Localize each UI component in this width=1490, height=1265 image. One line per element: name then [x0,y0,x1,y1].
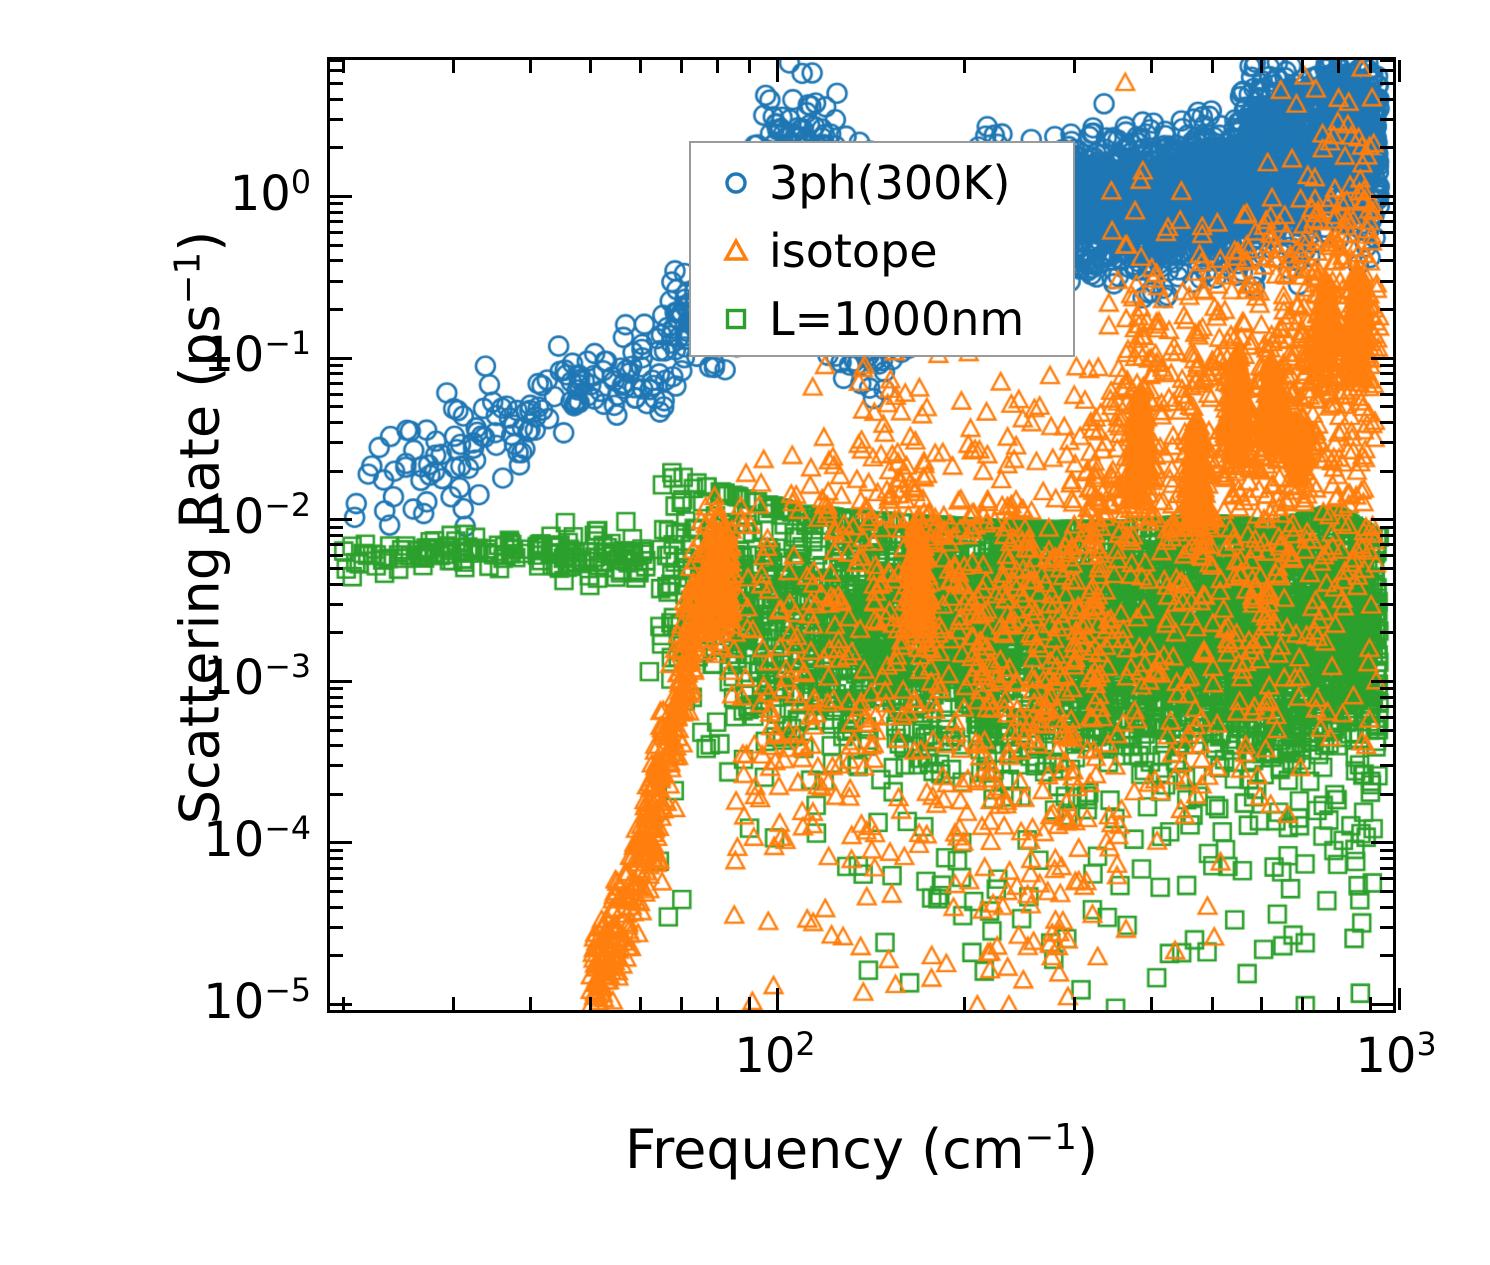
y-minor-tick-right [1380,82,1393,85]
y-minor-tick [330,906,343,909]
x-minor-tick [452,997,455,1010]
y-major-tick [330,357,352,360]
y-minor-tick-right [1380,364,1393,367]
y-minor-tick-right [1380,867,1393,870]
y-major-tick-right [1371,518,1393,521]
y-minor-tick [330,631,343,634]
y-minor-tick [330,603,343,606]
y-minor-tick [330,857,343,860]
legend-entry-isotope[interactable]: isotope [691,217,1073,285]
y-major-tick-right [1371,195,1393,198]
x-minor-tick [1150,997,1153,1010]
y-minor-tick [330,202,343,205]
y-major-tick [330,195,352,198]
y-minor-tick-right [1380,567,1393,570]
plot-area: 3ph(300K) isotope L=1000nm [327,57,1396,1013]
y-minor-tick [330,526,343,529]
y-minor-tick-right [1380,470,1393,473]
y-minor-tick-right [1380,244,1393,247]
x-minor-tick [748,997,751,1010]
x-minor-tick [1260,997,1263,1010]
y-minor-tick-right [1380,146,1393,149]
y-minor-tick-right [1380,849,1393,852]
y-minor-tick-right [1380,744,1393,747]
y-minor-tick-right [1380,793,1393,796]
y-minor-tick [330,69,343,72]
y-minor-tick-right [1380,308,1393,311]
y-minor-tick-right [1380,729,1393,732]
y-minor-tick-right [1380,1010,1393,1013]
y-minor-tick [330,146,343,149]
x-minor-tick [342,997,345,1010]
y-minor-tick [330,308,343,311]
y-minor-tick [330,543,343,546]
x-minor-tick [1369,997,1372,1010]
y-minor-tick [330,534,343,537]
legend-label-isotope: isotope [769,224,938,278]
figure-container: 10010−110−210−310−410−5 102103 3ph(300K) [0,0,1490,1265]
y-minor-tick-right [1380,372,1393,375]
y-minor-tick [330,554,343,557]
y-minor-tick-right [1380,554,1393,557]
y-minor-tick-right [1380,877,1393,880]
y-minor-tick [330,441,343,444]
y-minor-tick-right [1380,926,1393,929]
y-major-tick-right [1371,841,1393,844]
x-major-tick-top [776,60,779,82]
y-minor-tick-right [1380,857,1393,860]
x-minor-tick [529,997,532,1010]
x-minor-tick [716,997,719,1010]
x-minor-tick-top [639,60,642,73]
y-major-tick-right [1371,680,1393,683]
x-minor-tick [589,997,592,1010]
y-minor-tick-right [1380,534,1393,537]
y-minor-tick-right [1380,59,1393,62]
y-minor-tick [330,1010,343,1013]
y-minor-tick [330,382,343,385]
y-minor-tick [330,220,343,223]
legend-label-3ph: 3ph(300K) [769,156,1010,210]
y-minor-tick-right [1380,716,1393,719]
legend-entry-boundary[interactable]: L=1000nm [691,285,1073,353]
x-minor-tick [1337,997,1340,1010]
y-minor-tick-right [1380,906,1393,909]
y-minor-tick-right [1380,405,1393,408]
x-minor-tick-top [1369,60,1372,73]
y-minor-tick [330,244,343,247]
x-tick-label-group: 102103 [327,1028,1396,1098]
y-minor-tick [330,705,343,708]
x-minor-tick-top [342,60,345,73]
y-minor-tick [330,118,343,121]
y-tick-label: 100 [230,166,327,222]
x-minor-tick-top [1150,60,1153,73]
y-minor-tick [330,259,343,262]
y-minor-tick [330,393,343,396]
x-minor-tick-top [1260,60,1263,73]
x-major-tick-top [1398,60,1401,82]
y-minor-tick [330,98,343,101]
y-minor-tick-right [1380,631,1393,634]
y-minor-tick-right [1380,696,1393,699]
y-minor-tick-right [1380,687,1393,690]
y-minor-tick [330,567,343,570]
y-minor-tick [330,729,343,732]
y-major-tick [330,680,352,683]
y-minor-tick [330,59,343,62]
x-minor-tick-top [1301,60,1304,73]
x-minor-tick [1073,997,1076,1010]
legend-label-boundary: L=1000nm [769,292,1024,346]
y-minor-tick [330,954,343,957]
triangle-marker-icon [713,236,759,266]
y-minor-tick [330,793,343,796]
y-minor-tick [330,849,343,852]
y-minor-tick [330,280,343,283]
y-minor-tick [330,583,343,586]
x-minor-tick [680,997,683,1010]
y-minor-tick-right [1380,231,1393,234]
x-minor-tick-top [716,60,719,73]
x-tick-label: 102 [734,1028,815,1084]
y-minor-tick [330,470,343,473]
y-minor-tick-right [1380,526,1393,529]
x-major-tick [1398,988,1401,1010]
x-minor-tick-top [748,60,751,73]
x-minor-tick-top [1211,60,1214,73]
circle-marker-icon [713,168,759,198]
y-minor-tick-right [1380,280,1393,283]
x-minor-tick-top [452,60,455,73]
y-minor-tick [330,687,343,690]
y-minor-tick-right [1380,220,1393,223]
y-minor-tick [330,716,343,719]
x-minor-tick-top [529,60,532,73]
y-minor-tick-right [1380,259,1393,262]
x-axis-label: Frequency (cm−1) [327,1118,1396,1181]
square-marker-icon [713,304,759,334]
y-minor-tick [330,211,343,214]
y-minor-tick [330,696,343,699]
y-minor-tick-right [1380,441,1393,444]
x-minor-tick [1301,997,1304,1010]
y-minor-tick [330,231,343,234]
y-minor-tick [330,926,343,929]
y-axis-label: Scattering Rate (ps−1) [169,50,232,1006]
y-minor-tick-right [1380,118,1393,121]
y-minor-tick [330,890,343,893]
y-minor-tick-right [1380,421,1393,424]
y-minor-tick-right [1380,382,1393,385]
legend: 3ph(300K) isotope L=1000nm [689,141,1075,357]
y-major-tick-right [1371,357,1393,360]
y-minor-tick-right [1380,705,1393,708]
y-minor-tick [330,421,343,424]
y-minor-tick-right [1380,98,1393,101]
x-minor-tick-top [963,60,966,73]
y-minor-tick [330,364,343,367]
legend-entry-3ph[interactable]: 3ph(300K) [691,149,1073,217]
y-major-tick [330,518,352,521]
y-minor-tick [330,744,343,747]
y-minor-tick [330,764,343,767]
y-minor-tick-right [1380,393,1393,396]
y-minor-tick [330,372,343,375]
y-minor-tick [330,877,343,880]
x-minor-tick [963,997,966,1010]
x-minor-tick-top [680,60,683,73]
y-minor-tick-right [1380,583,1393,586]
y-major-tick [330,841,352,844]
y-minor-tick [330,867,343,870]
x-minor-tick [639,997,642,1010]
y-minor-tick-right [1380,764,1393,767]
x-minor-tick-top [589,60,592,73]
x-major-tick [776,988,779,1010]
x-minor-tick-top [1073,60,1076,73]
y-major-tick [330,1003,352,1006]
y-minor-tick-right [1380,603,1393,606]
y-minor-tick-right [1380,954,1393,957]
y-minor-tick-right [1380,69,1393,72]
x-minor-tick-top [1337,60,1340,73]
x-minor-tick [1211,997,1214,1010]
y-major-tick-right [1371,1003,1393,1006]
y-minor-tick-right [1380,211,1393,214]
x-tick-label: 103 [1355,1028,1436,1084]
y-minor-tick-right [1380,543,1393,546]
y-minor-tick [330,82,343,85]
y-minor-tick-right [1380,202,1393,205]
y-minor-tick-right [1380,890,1393,893]
y-minor-tick [330,405,343,408]
